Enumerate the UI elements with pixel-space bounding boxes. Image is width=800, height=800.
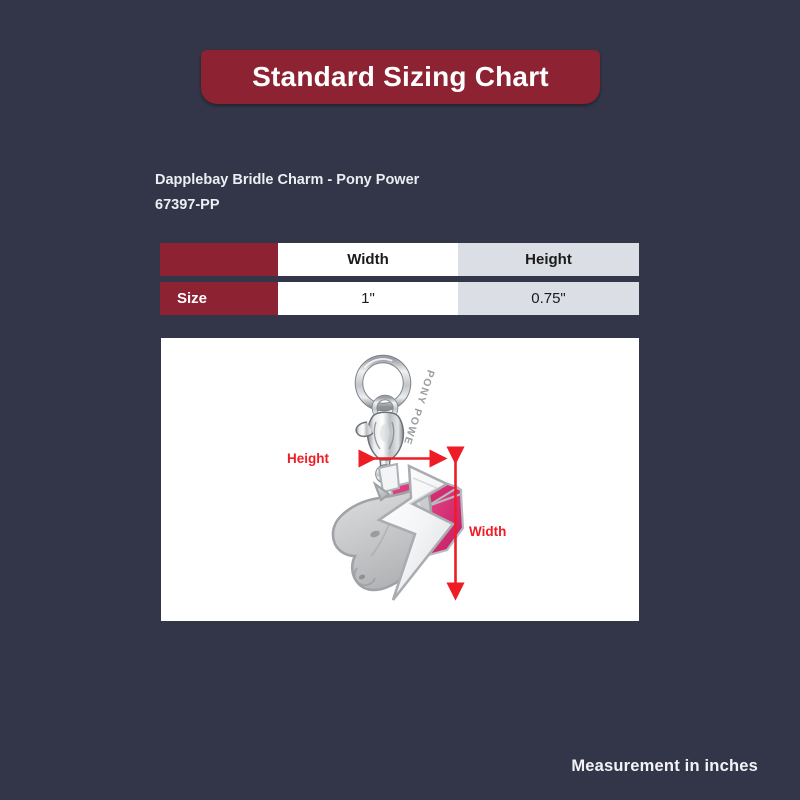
table-row-label-size: Size bbox=[160, 282, 278, 315]
width-annotation: Width bbox=[456, 462, 507, 598]
page-title: Standard Sizing Chart bbox=[252, 63, 549, 91]
height-annotation: Height bbox=[287, 451, 445, 466]
product-sku: 67397-PP bbox=[155, 198, 655, 213]
charm-illustration: PONY POWER Height Width bbox=[161, 338, 639, 621]
table-header-row: Width Height bbox=[160, 243, 639, 276]
table-corner-cell bbox=[160, 243, 278, 276]
height-annotation-label: Height bbox=[287, 451, 330, 466]
table-header-width: Width bbox=[278, 243, 458, 276]
table-header-height: Height bbox=[458, 243, 639, 276]
title-banner: Standard Sizing Chart bbox=[201, 50, 600, 104]
table-cell-size-width: 1" bbox=[278, 282, 458, 315]
table-row: Size 1" 0.75" bbox=[160, 282, 639, 315]
product-name: Dapplebay Bridle Charm - Pony Power bbox=[155, 173, 655, 188]
measurement-note: Measurement in inches bbox=[571, 757, 758, 776]
product-image-panel: PONY POWER Height Width bbox=[161, 338, 639, 621]
width-annotation-label: Width bbox=[469, 524, 506, 539]
sizing-table: Width Height Size 1" 0.75" bbox=[160, 243, 639, 315]
table-cell-size-height: 0.75" bbox=[458, 282, 639, 315]
split-ring-icon bbox=[350, 350, 416, 416]
product-info: Dapplebay Bridle Charm - Pony Power 6739… bbox=[155, 173, 655, 212]
